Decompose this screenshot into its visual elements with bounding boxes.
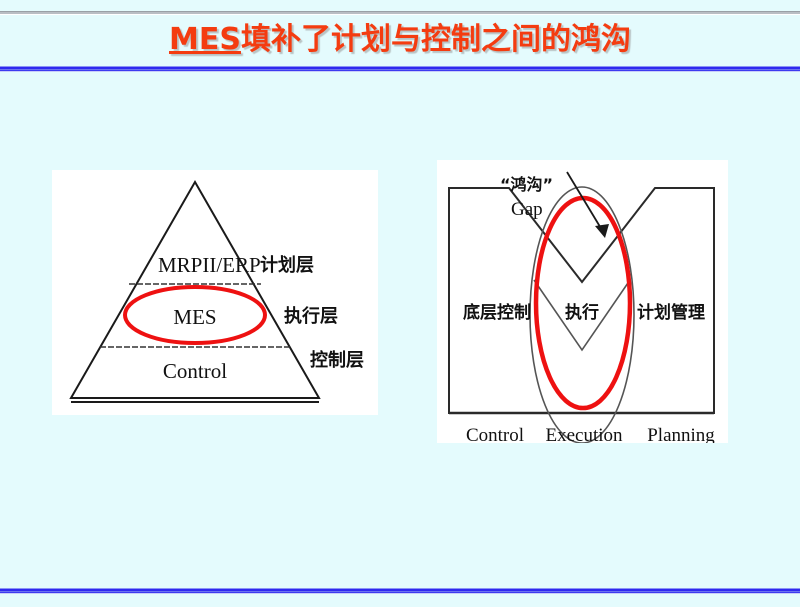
gap-zone-0-cn: 底层控制: [463, 302, 531, 323]
pyramid-layer-2-side: 控制层: [310, 349, 364, 371]
gap-zone-1-cn: 执行: [565, 302, 599, 323]
pyramid-layer-0-en: MRPII/ERP: [158, 253, 261, 277]
pyramid-diagram-panel: MRPII/ERP 计划层 MES 执行层 Control 控制层: [52, 170, 378, 415]
pyramid-layer-2-en: Control: [163, 359, 227, 383]
title-underlined-part: MES: [169, 22, 241, 57]
gap-zone-1-en: Execution: [545, 425, 623, 443]
gap-label-cn: “鸿沟”: [500, 175, 553, 194]
top-divider-rule: [0, 11, 800, 15]
pyramid-layer-0-cn: 计划层: [260, 254, 314, 276]
gap-diagram-panel: “鸿沟” Gap 底层控制 执行 计划管理 Control Execution …: [437, 160, 728, 443]
pyramid-svg: MRPII/ERP 计划层 MES 执行层 Control 控制层: [52, 170, 378, 415]
gap-svg: “鸿沟” Gap 底层控制 执行 计划管理 Control Execution …: [437, 160, 728, 443]
title-rest-part: 填补了计划与控制之间的鸿沟: [241, 22, 631, 57]
gap-zone-2-en: Planning: [647, 425, 715, 443]
gap-box-outline: [449, 188, 714, 413]
pyramid-layer-1-side: 执行层: [284, 305, 338, 327]
title-underline-rule: [0, 66, 800, 72]
page-title: MES填补了计划与控制之间的鸿沟: [0, 21, 800, 59]
bottom-divider-rule: [0, 588, 800, 594]
gap-label-en: Gap: [511, 199, 543, 220]
slide-canvas: MES填补了计划与控制之间的鸿沟 MRPII/ERP 计划层 MES 执行层 C…: [0, 0, 800, 607]
pyramid-layer-1-en: MES: [173, 305, 216, 329]
gap-zone-0-en: Control: [466, 425, 524, 443]
gap-zone-2-cn: 计划管理: [637, 302, 705, 323]
